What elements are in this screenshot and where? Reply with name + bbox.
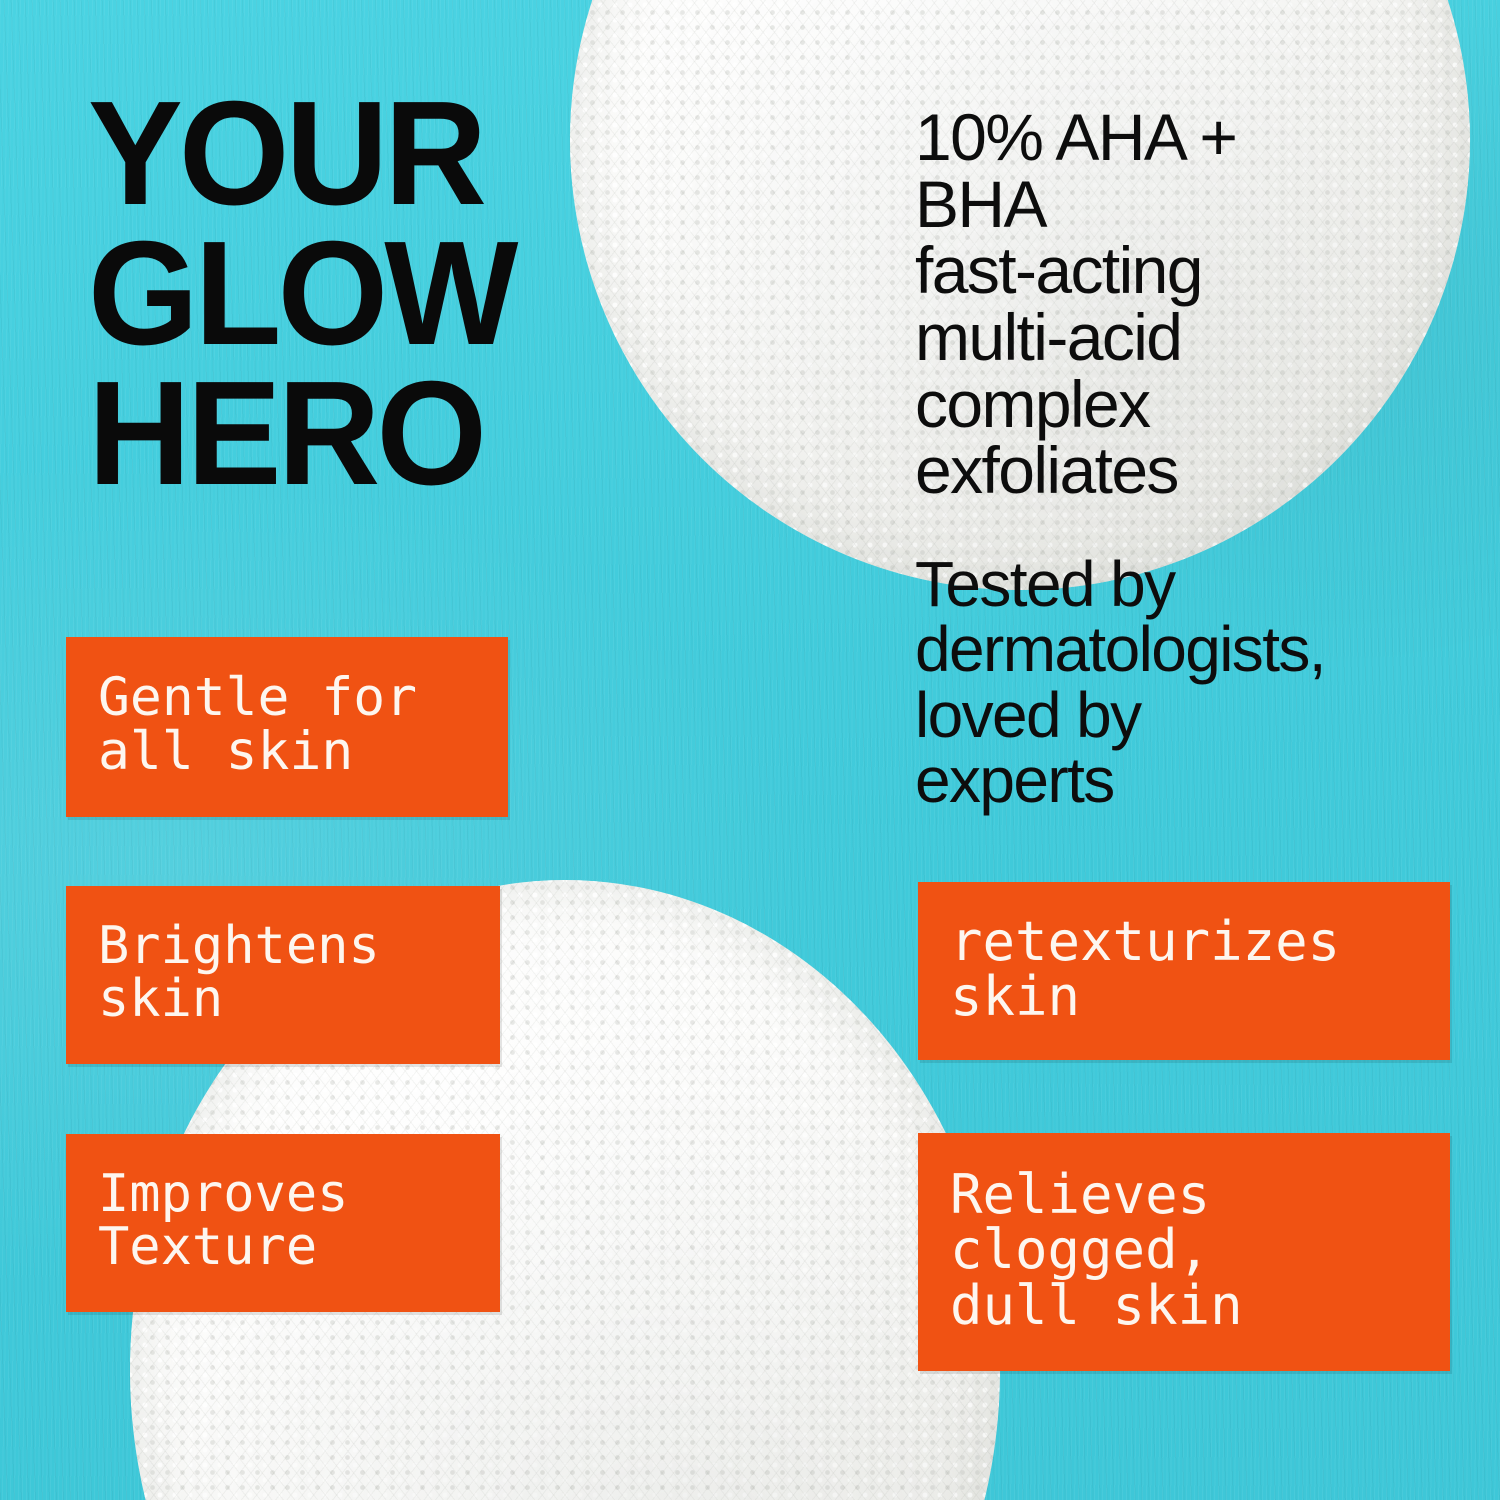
product-benefit-graphic: YOUR GLOW HERO 10% AHA + BHA fast-acting… [0, 0, 1500, 1500]
benefit-chip-retexturizes: retexturizes skin [918, 882, 1450, 1060]
claim-acid-complex: 10% AHA + BHA fast-acting multi-acid com… [915, 104, 1500, 504]
benefit-chip-relieves: Relieves clogged, dull skin [918, 1133, 1450, 1371]
benefit-chip-brightens-label: Brightens skin [66, 920, 398, 1026]
benefit-chip-retexturizes-label: retexturizes skin [918, 914, 1358, 1024]
benefit-chip-relieves-label: Relieves clogged, dull skin [918, 1167, 1261, 1332]
page-title: YOUR GLOW HERO [88, 84, 539, 504]
claim-tested-loved: Tested by dermatologists, loved by exper… [915, 552, 1500, 813]
benefit-chip-texture-label: Improves Texture [66, 1168, 366, 1274]
benefit-chip-gentle-label: Gentle for all skin [66, 671, 435, 779]
benefit-chip-brightens: Brightens skin [66, 886, 500, 1064]
benefit-chip-texture: Improves Texture [66, 1134, 500, 1312]
benefit-chip-gentle: Gentle for all skin [66, 637, 508, 817]
